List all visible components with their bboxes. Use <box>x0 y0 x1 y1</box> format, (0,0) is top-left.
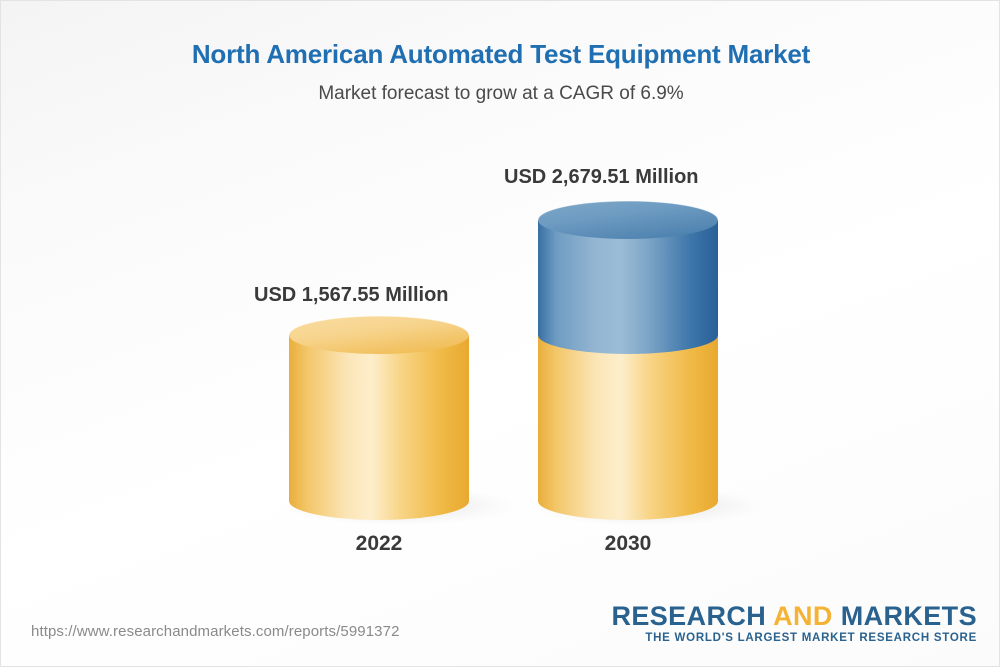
value-label-2030: USD 2,679.51 Million <box>504 166 699 189</box>
bar-2030-growth-segment <box>538 220 718 354</box>
chart-plot-area <box>1 1 1000 601</box>
source-url[interactable]: https://www.researchandmarkets.com/repor… <box>31 623 400 640</box>
brand-logo: RESEARCH AND MARKETS THE WORLD'S LARGEST… <box>611 601 977 646</box>
bar-2022 <box>281 316 517 526</box>
brand-word-research: RESEARCH <box>611 601 766 631</box>
brand-word-markets: MARKETS <box>841 601 977 631</box>
bar-2030 <box>530 201 766 526</box>
category-label-2030: 2030 <box>538 532 718 556</box>
bar-2022-body <box>289 335 469 520</box>
category-label-2022: 2022 <box>289 532 469 556</box>
brand-word-and: AND <box>773 601 833 631</box>
value-label-2022: USD 1,567.55 Million <box>254 284 449 307</box>
bar-2030-base-segment <box>538 335 718 520</box>
chart-infographic: North American Automated Test Equipment … <box>0 0 1000 667</box>
cylinder-bars-svg <box>1 1 1000 601</box>
brand-tagline: THE WORLD'S LARGEST MARKET RESEARCH STOR… <box>611 631 977 646</box>
brand-name: RESEARCH AND MARKETS <box>611 601 977 631</box>
